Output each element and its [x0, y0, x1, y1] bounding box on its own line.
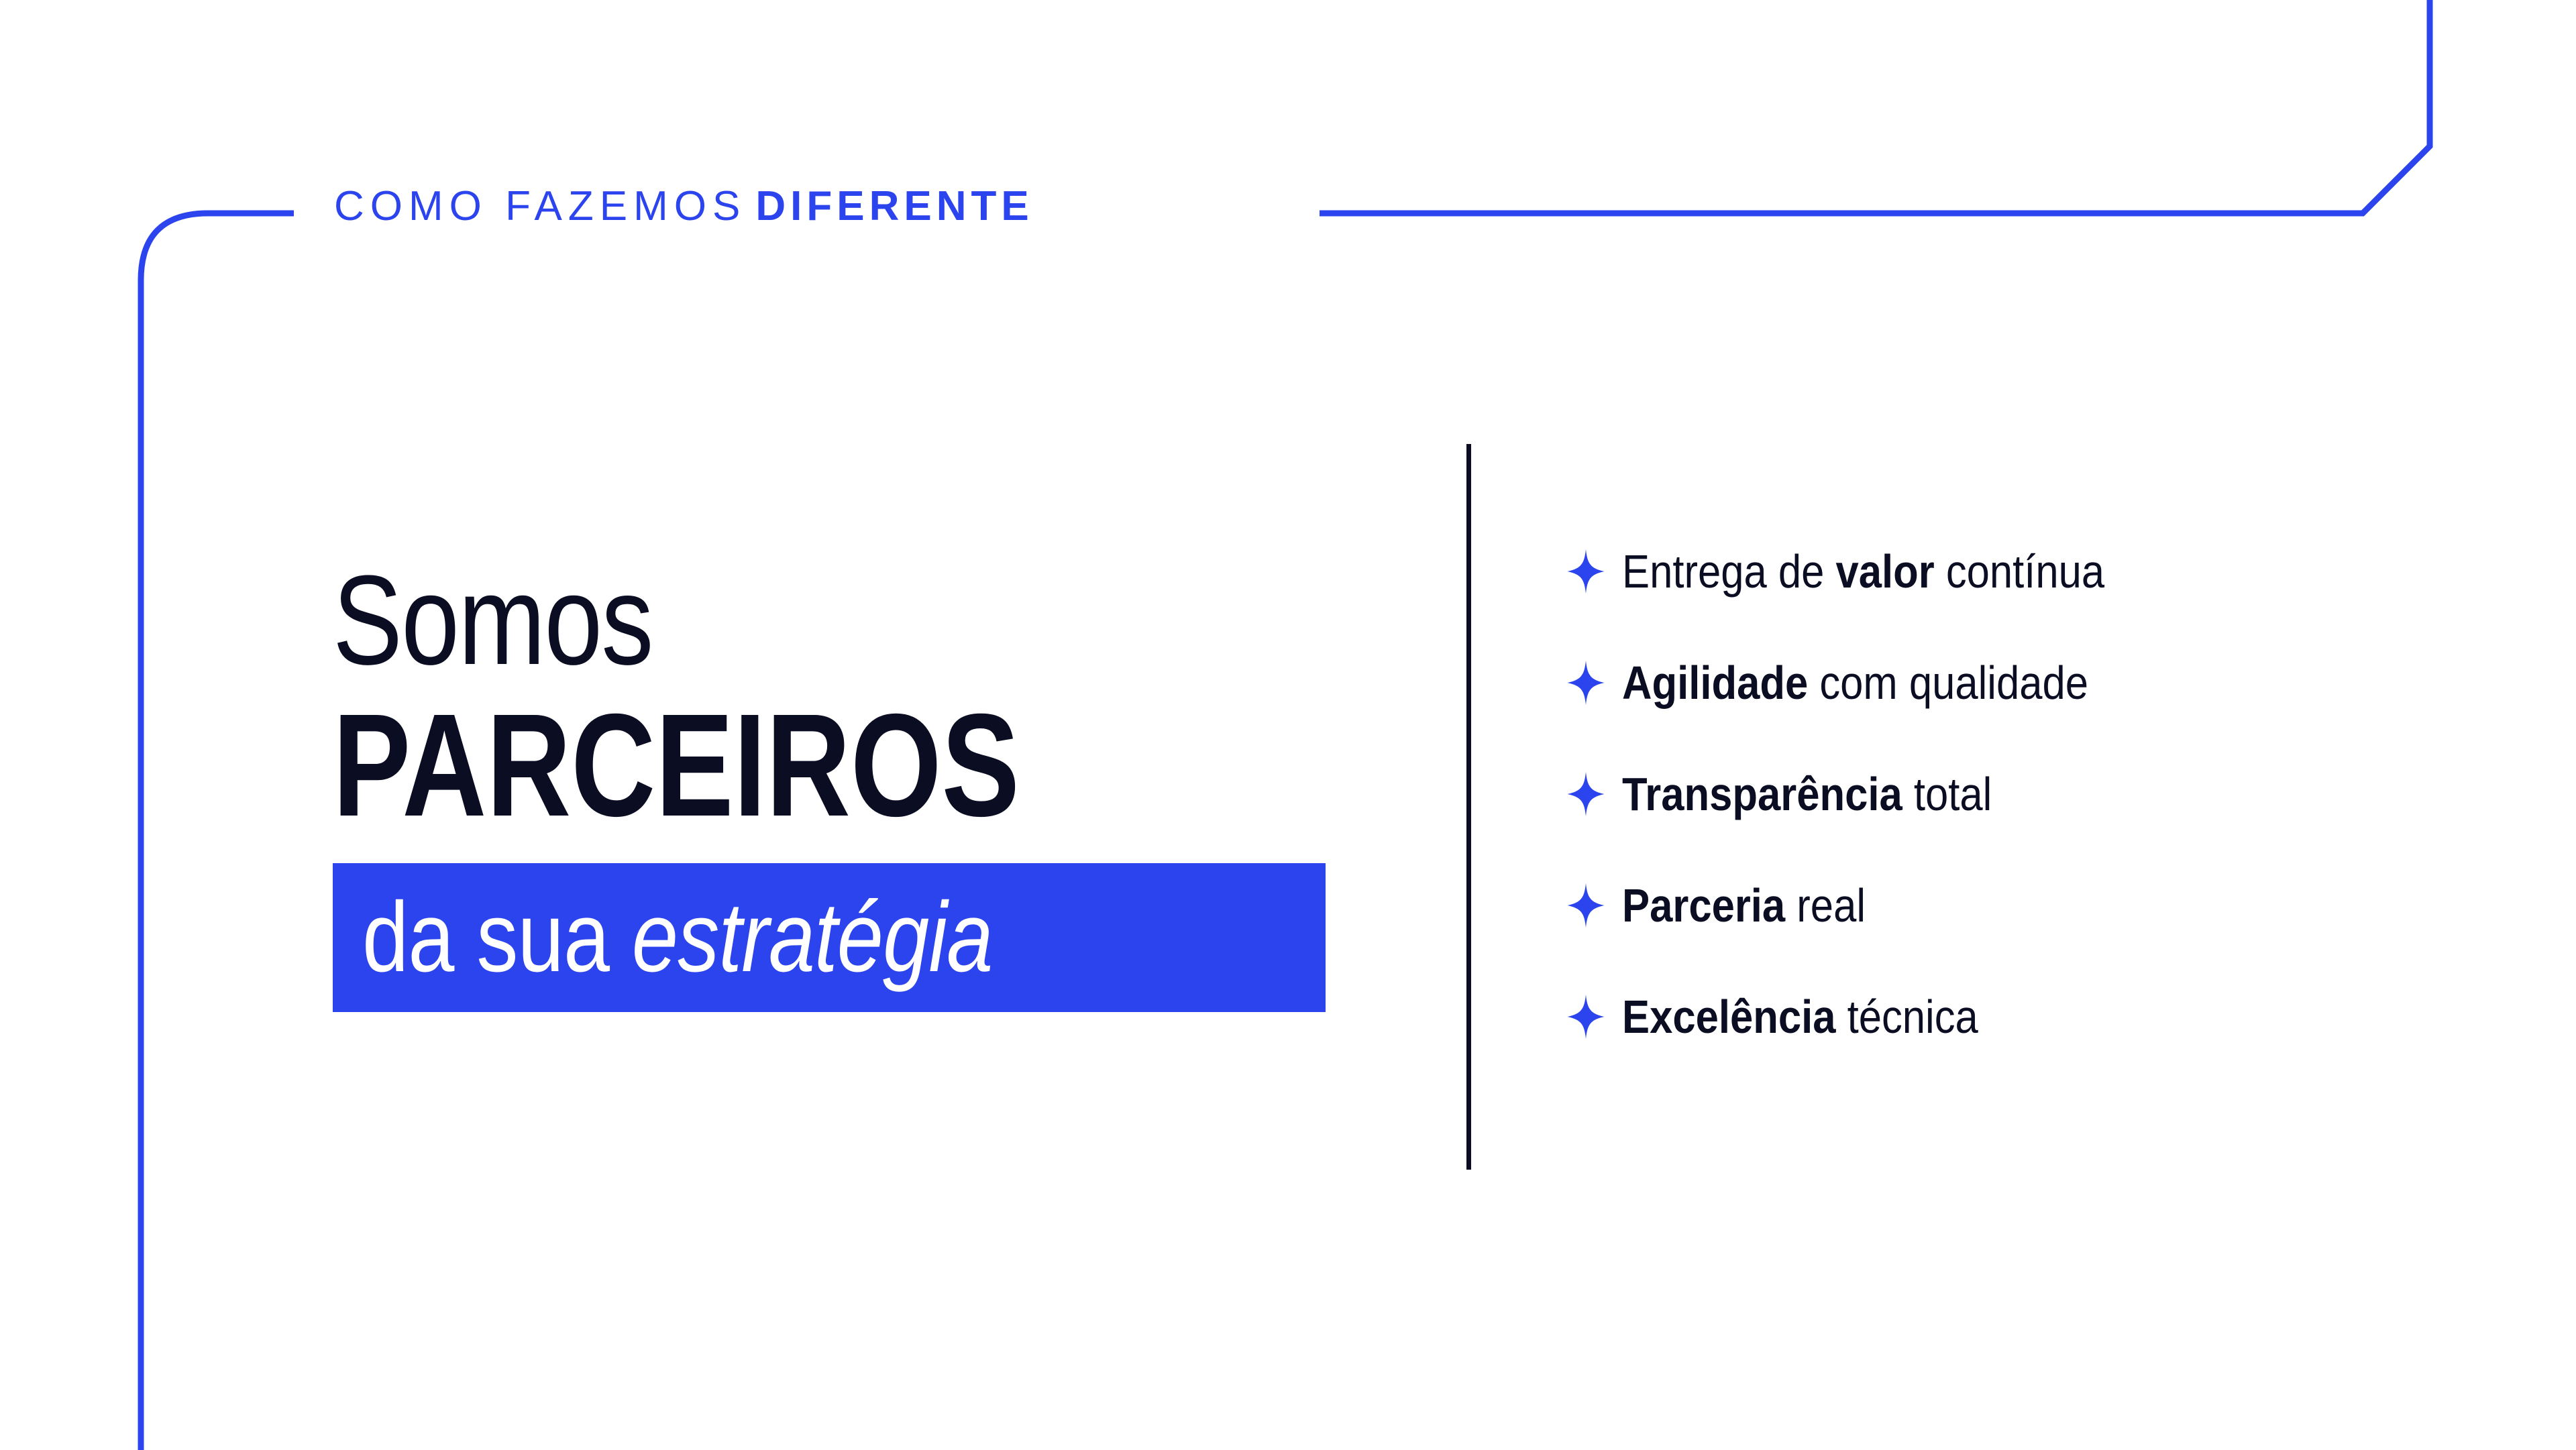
- list-item: Entrega de valor contínua: [1567, 543, 2493, 600]
- list-item: Excelência técnica: [1567, 989, 2493, 1045]
- bullet-2-normal: total: [1902, 768, 1992, 820]
- bullet-3-normal: real: [1785, 879, 1866, 932]
- headline-line-2: PARCEIROS: [333, 688, 1191, 843]
- bullet-3-strong: Parceria: [1622, 879, 1785, 932]
- highlight-plain-part: da sua: [362, 882, 632, 993]
- bullet-1-strong: Agilidade: [1622, 657, 1808, 709]
- sparkle-star-icon: [1567, 995, 1605, 1039]
- list-item: Parceria real: [1567, 877, 2493, 934]
- kicker-label: COMO FAZEMOS DIFERENTE: [334, 180, 1034, 233]
- highlight-italic-part: estratégia: [632, 882, 993, 993]
- sparkle-star-icon: [1567, 772, 1605, 816]
- list-item-text: Excelência técnica: [1622, 993, 1978, 1040]
- list-item-text: Parceria real: [1622, 882, 1866, 929]
- kicker-bold-text: DIFERENTE: [755, 186, 1033, 227]
- list-item-text: Transparência total: [1622, 771, 1992, 818]
- bullet-1-normal: com qualidade: [1808, 657, 2088, 709]
- sparkle-star-icon: [1567, 883, 1605, 928]
- bullet-0-normal2: contínua: [1935, 545, 2104, 598]
- benefits-list: Entrega de valor contínua Agilidade com …: [1567, 543, 2493, 1045]
- headline-line-1: Somos: [333, 557, 1213, 684]
- frame-top-right-chamfer-line: [1320, 0, 2430, 213]
- list-item-text: Entrega de valor contínua: [1622, 548, 2104, 595]
- vertical-divider: [1466, 444, 1471, 1170]
- list-item: Transparência total: [1567, 766, 2493, 822]
- headline-block: Somos PARCEIROS da sua estratégia: [333, 557, 1406, 1012]
- kicker-light-text: COMO FAZEMOS: [334, 186, 746, 227]
- sparkle-star-icon: [1567, 549, 1605, 594]
- bullet-4-strong: Excelência: [1622, 991, 1836, 1043]
- frame-left-rounded-line: [141, 213, 294, 1450]
- list-item-text: Agilidade com qualidade: [1622, 659, 2088, 706]
- headline-highlight-text: da sua estratégia: [362, 888, 993, 987]
- bullet-4-normal: técnica: [1836, 991, 1978, 1043]
- sparkle-star-icon: [1567, 661, 1605, 705]
- bullet-2-strong: Transparência: [1622, 768, 1902, 820]
- list-item: Agilidade com qualidade: [1567, 655, 2493, 711]
- slide-canvas: COMO FAZEMOS DIFERENTE Somos PARCEIROS d…: [0, 0, 2576, 1450]
- bullet-0-strong: valor: [1836, 545, 1935, 598]
- bullet-0-normal: Entrega de: [1622, 545, 1836, 598]
- headline-highlight-box: da sua estratégia: [333, 863, 1326, 1012]
